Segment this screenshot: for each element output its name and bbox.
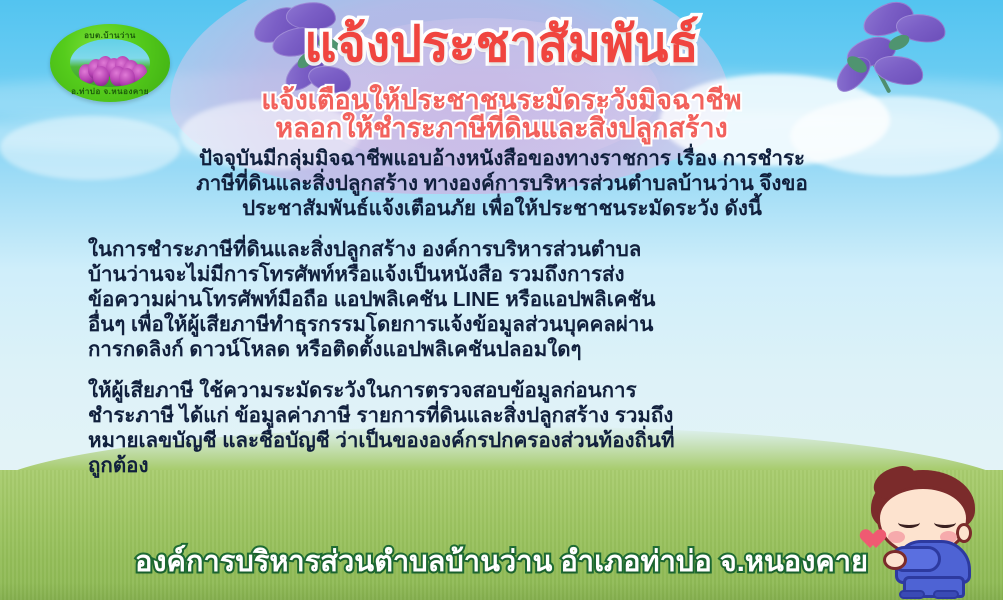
eye-left-icon [898,517,920,528]
subtitle-line-2: หลอกให้ชำระภาษีที่ดินและสิ่งปลูกสร้าง [0,113,1003,145]
paragraph-line: ในการชำระภาษีที่ดินและสิ่งปลูกสร้าง องค์… [88,237,976,262]
paragraph-3: ให้ผู้เสียภาษี ใช้ความระมัดระวังในการตรว… [28,378,976,478]
paragraph-line: ให้ผู้เสียภาษี ใช้ความระมัดระวังในการตรว… [88,378,976,403]
footer-organization-name: องค์การบริหารส่วนตำบลบ้านว่าน อำเภอท่าบ่… [0,538,1003,584]
paragraph-2: ในการชำระภาษีที่ดินและสิ่งปลูกสร้าง องค์… [28,237,976,362]
paragraph-line: ข้อความผ่านโทรศัพท์มือถือ แอปพลิเคชัน LI… [88,287,976,312]
paragraph-line: ถูกต้อง [88,453,976,478]
paragraph-line: ชำระภาษี ได้แก่ ข้อมูลค่าภาษี รายการที่ด… [88,403,976,428]
paragraph-line: การกดลิงก์ ดาวน์โหลด หรือติดตั้งแอปพลิเค… [88,337,976,362]
announcement-poster: อบต.บ้านว่าน อ.ท่าบ่อ จ.หนองคาย แจ้งประช… [0,0,1003,600]
grass-shadow [0,582,1003,600]
page-title: แจ้งประชาสัมพันธ์ [0,18,1003,71]
paragraph-line: ภาษีที่ดินและสิ่งปลูกสร้าง ทางองค์การบริ… [28,171,976,196]
paragraph-line: อื่นๆ เพื่อให้ผู้เสียภาษีทำธุรกรรมโดยการ… [88,312,976,337]
paragraph-line: ปัจจุบันมีกลุ่มมิจฉาชีพแอบอ้างหนังสือของ… [28,146,976,171]
paragraph-1: ปัจจุบันมีกลุ่มมิจฉาชีพแอบอ้างหนังสือของ… [28,146,976,221]
paragraph-line: ประชาสัมพันธ์แจ้งเตือนภัย เพื่อให้ประชาช… [28,196,976,221]
paragraph-line: บ้านว่านจะไม่มีการโทรศัพท์หรือแจ้งเป็นหน… [88,262,976,287]
announcement-body: ปัจจุบันมีกลุ่มมิจฉาชีพแอบอ้างหนังสือของ… [28,146,976,478]
shoe-left-icon [899,590,925,599]
eye-right-icon [934,517,956,528]
paragraph-line: หมายเลขบัญชี และชื่อบัญชี ว่าเป็นขององค์… [88,428,976,453]
shoe-right-icon [933,590,959,599]
